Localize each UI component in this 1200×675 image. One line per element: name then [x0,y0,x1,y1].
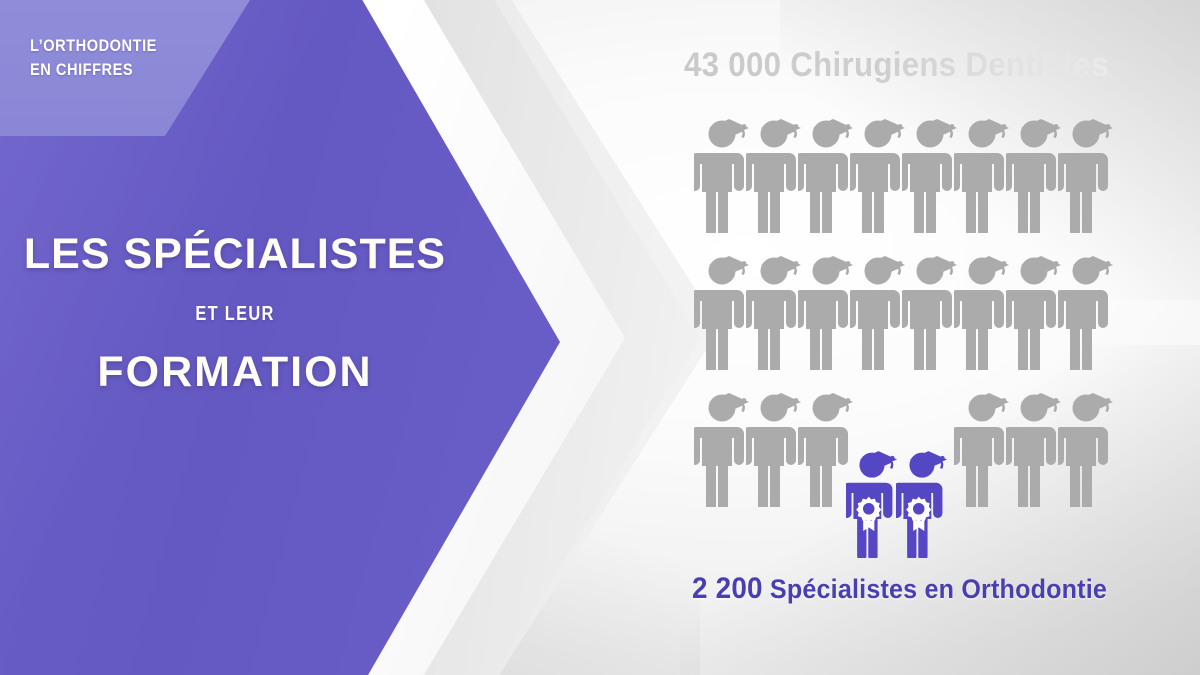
specialist-count: 2 200 [692,572,763,605]
pictogram-figure-dentist [694,245,750,370]
pictogram-figure-dentist [746,382,802,507]
headline-line-1: LES SPÉCIALISTES [0,232,470,277]
pictogram-figure-dentist [954,245,1010,370]
pictogram-title: 43 000 Chirugiens Dentistes [684,46,1109,85]
specialist-label: Spécialistes en Orthodontie [770,574,1107,604]
pictogram-figure-dentist [694,382,750,507]
pictogram-figure-dentist [850,245,906,370]
pictogram-caption: 2 200 Spécialistes en Orthodontie [692,572,1107,606]
pictogram-figure-dentist [902,108,958,233]
pictogram-figure-dentist [1006,245,1062,370]
pictogram-figure-dentist [746,108,802,233]
pictogram-figure-dentist [1058,382,1114,507]
pictogram-chart [694,108,1114,519]
pictogram-row-1 [694,108,1114,245]
headline-block: LES SPÉCIALISTES ET LEUR FORMATION [0,232,470,397]
section-banner-label: L’ORTHODONTIE EN CHIFFRES [30,34,157,82]
pictogram-figure-dentist [954,108,1010,233]
pictogram-row-3 [694,382,1114,519]
pictogram-figure-dentist [954,382,1010,507]
pictogram-figure-dentist [1006,108,1062,233]
pictogram-figure-dentist [902,245,958,370]
pictogram-figure-dentist [694,108,750,233]
pictogram-figure-dentist [746,245,802,370]
headline-line-2: ET LEUR [42,303,427,326]
pictogram-figure-dentist [798,245,854,370]
pictogram-figure-dentist [850,108,906,233]
headline-line-3: FORMATION [0,348,470,397]
pictogram-row-2 [694,245,1114,382]
pictogram-figure-dentist [1006,382,1062,507]
pictogram-figure-dentist [1058,108,1114,233]
pictogram-figure-dentist [798,108,854,233]
pictogram-figure-orthodontist [896,440,948,558]
infographic-slide: L’ORTHODONTIE EN CHIFFRES LES SPÉCIALIST… [0,0,1200,675]
pictogram-figure-dentist [1058,245,1114,370]
pictogram-figure-orthodontist [846,440,898,558]
